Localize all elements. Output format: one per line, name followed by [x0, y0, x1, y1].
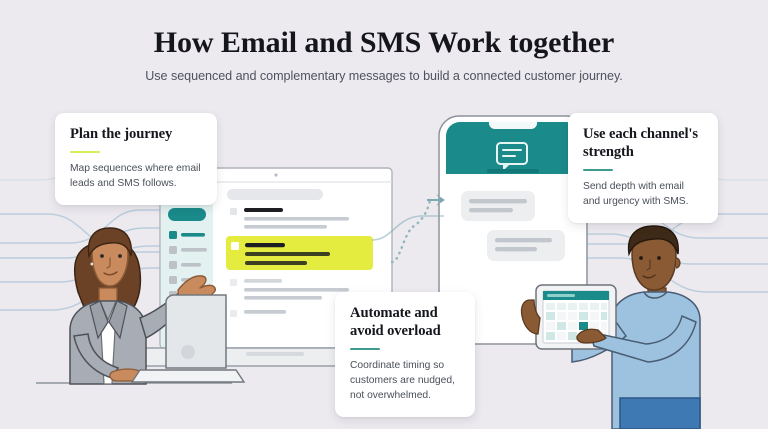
dotted-flow-arrow	[372, 194, 445, 262]
pointing-hand	[577, 329, 606, 343]
sms-bubble-incoming	[461, 191, 535, 221]
sms-bubble-outgoing	[487, 230, 565, 261]
email-row-selected	[226, 236, 373, 270]
infographic-canvas: How Email and SMS Work together Use sequ…	[0, 0, 768, 429]
email-row	[230, 208, 349, 229]
search-bar	[227, 189, 323, 200]
card-body: Map sequences where email leads and SMS …	[70, 161, 202, 191]
page-subtitle: Use sequenced and complementary messages…	[0, 69, 768, 83]
chat-bubble-icon	[497, 143, 527, 171]
card-title: Plan the journey	[70, 126, 202, 144]
card-title: Automate and avoid overload	[350, 305, 460, 341]
card-body: Coordinate timing so customers are nudge…	[350, 358, 460, 403]
card-accent-rule	[583, 169, 613, 172]
card-body: Send depth with email and urgency with S…	[583, 179, 703, 209]
callout-card-plan-the-journey[interactable]: Plan the journey Map sequences where ema…	[55, 113, 217, 205]
woman-presenter	[36, 228, 244, 384]
email-row	[230, 310, 286, 317]
callout-card-use-each-channels-strength[interactable]: Use each channel's strength Send depth w…	[568, 113, 718, 223]
sidebar-nav-items	[169, 231, 207, 299]
gesturing-hand	[178, 276, 215, 310]
tablet-calendar-mockup	[536, 285, 616, 349]
man-with-tablet	[521, 226, 700, 429]
email-row	[230, 279, 349, 300]
header: How Email and SMS Work together Use sequ…	[0, 26, 768, 83]
womans-laptop	[132, 295, 244, 382]
card-title: Use each channel's strength	[583, 126, 703, 162]
card-accent-rule	[350, 348, 380, 351]
card-accent-rule	[70, 151, 100, 154]
page-title: How Email and SMS Work together	[0, 26, 768, 60]
callout-card-automate-and-avoid-overload[interactable]: Automate and avoid overload Coordinate t…	[335, 292, 475, 417]
compose-button	[168, 208, 206, 221]
